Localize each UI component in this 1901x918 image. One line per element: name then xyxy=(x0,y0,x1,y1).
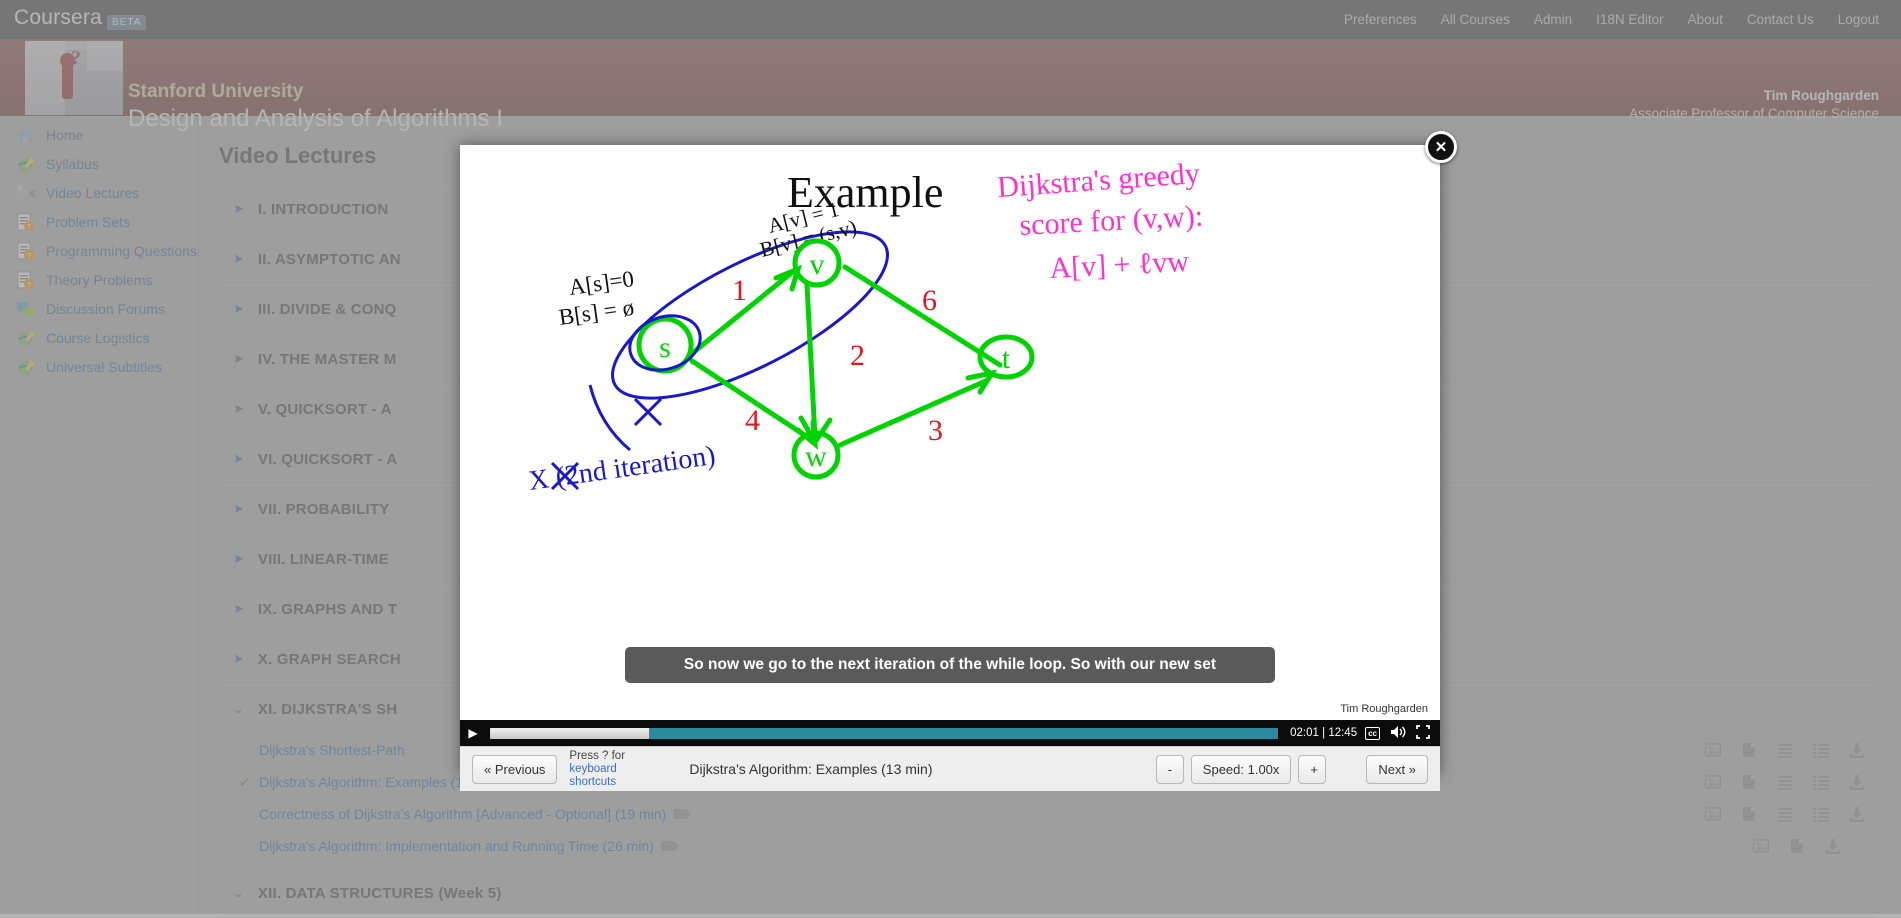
blue-notes-text: X (2nd iteration) xyxy=(527,440,718,497)
video-player-modal: Example Dijkstra's greedy score for (v,w… xyxy=(460,145,1440,775)
pink-notes-text: Dijkstra's greedy score for (v,w): A[v] … xyxy=(996,157,1204,285)
whiteboard-drawing: Example Dijkstra's greedy score for (v,w… xyxy=(460,145,1440,696)
speed-controls: - Speed: 1.00x + xyxy=(1156,755,1327,784)
svg-text:s: s xyxy=(659,331,671,364)
speed-display-button[interactable]: Speed: 1.00x xyxy=(1191,755,1292,784)
svg-text:X (2nd iteration): X (2nd iteration) xyxy=(527,440,718,497)
red-edge-weights: 1 2 4 6 3 xyxy=(732,274,943,447)
video-caption: So now we go to the next iteration of th… xyxy=(625,647,1275,683)
keyboard-shortcuts-link[interactable]: keyboard shortcuts xyxy=(569,763,616,788)
keyboard-shortcuts-hint: Press ? for keyboard shortcuts xyxy=(569,750,659,789)
svg-text:score for (v,w):: score for (v,w): xyxy=(1019,199,1204,242)
speed-decrease-button[interactable]: - xyxy=(1156,755,1184,784)
cc-icon[interactable]: cc xyxy=(1365,727,1380,740)
fullscreen-icon[interactable] xyxy=(1416,725,1430,742)
time-total: 12:45 xyxy=(1328,727,1357,739)
time-display: 02:01 | 12:45 xyxy=(1282,727,1365,739)
svg-text:Dijkstra's greedy: Dijkstra's greedy xyxy=(996,157,1201,204)
svg-text:t: t xyxy=(1002,342,1011,375)
volume-icon[interactable] xyxy=(1390,725,1406,742)
progress-scrubber[interactable] xyxy=(490,728,1278,739)
board-credit: Tim Roughgarden xyxy=(1340,703,1428,715)
speed-increase-button[interactable]: + xyxy=(1298,755,1326,784)
close-icon[interactable]: ✕ xyxy=(1425,131,1457,163)
svg-text:2: 2 xyxy=(850,339,865,372)
svg-text:1: 1 xyxy=(732,274,747,307)
video-control-bar: ▶ 02:01 | 12:45 cc xyxy=(460,720,1440,746)
video-bottom-bar: « Previous Press ? for keyboard shortcut… xyxy=(460,746,1440,791)
previous-button[interactable]: « Previous xyxy=(472,755,557,784)
video-title: Dijkstra's Algorithm: Examples (13 min) xyxy=(659,761,1155,777)
whiteboard-slide: Example Dijkstra's greedy score for (v,w… xyxy=(460,145,1440,696)
svg-text:v: v xyxy=(810,248,825,281)
time-separator: | xyxy=(1322,727,1325,739)
next-button[interactable]: Next » xyxy=(1366,755,1428,784)
svg-text:A[v] + ℓvw: A[v] + ℓvw xyxy=(1049,245,1190,285)
svg-text:4: 4 xyxy=(745,404,760,437)
progress-fill xyxy=(490,728,649,739)
shortcuts-prefix: Press ? for xyxy=(569,750,625,762)
svg-text:3: 3 xyxy=(928,414,943,447)
svg-text:w: w xyxy=(805,440,827,473)
time-current: 02:01 xyxy=(1290,727,1319,739)
play-icon[interactable]: ▶ xyxy=(460,720,486,746)
svg-text:B[s] = ø: B[s] = ø xyxy=(557,295,635,330)
svg-text:6: 6 xyxy=(922,284,937,317)
